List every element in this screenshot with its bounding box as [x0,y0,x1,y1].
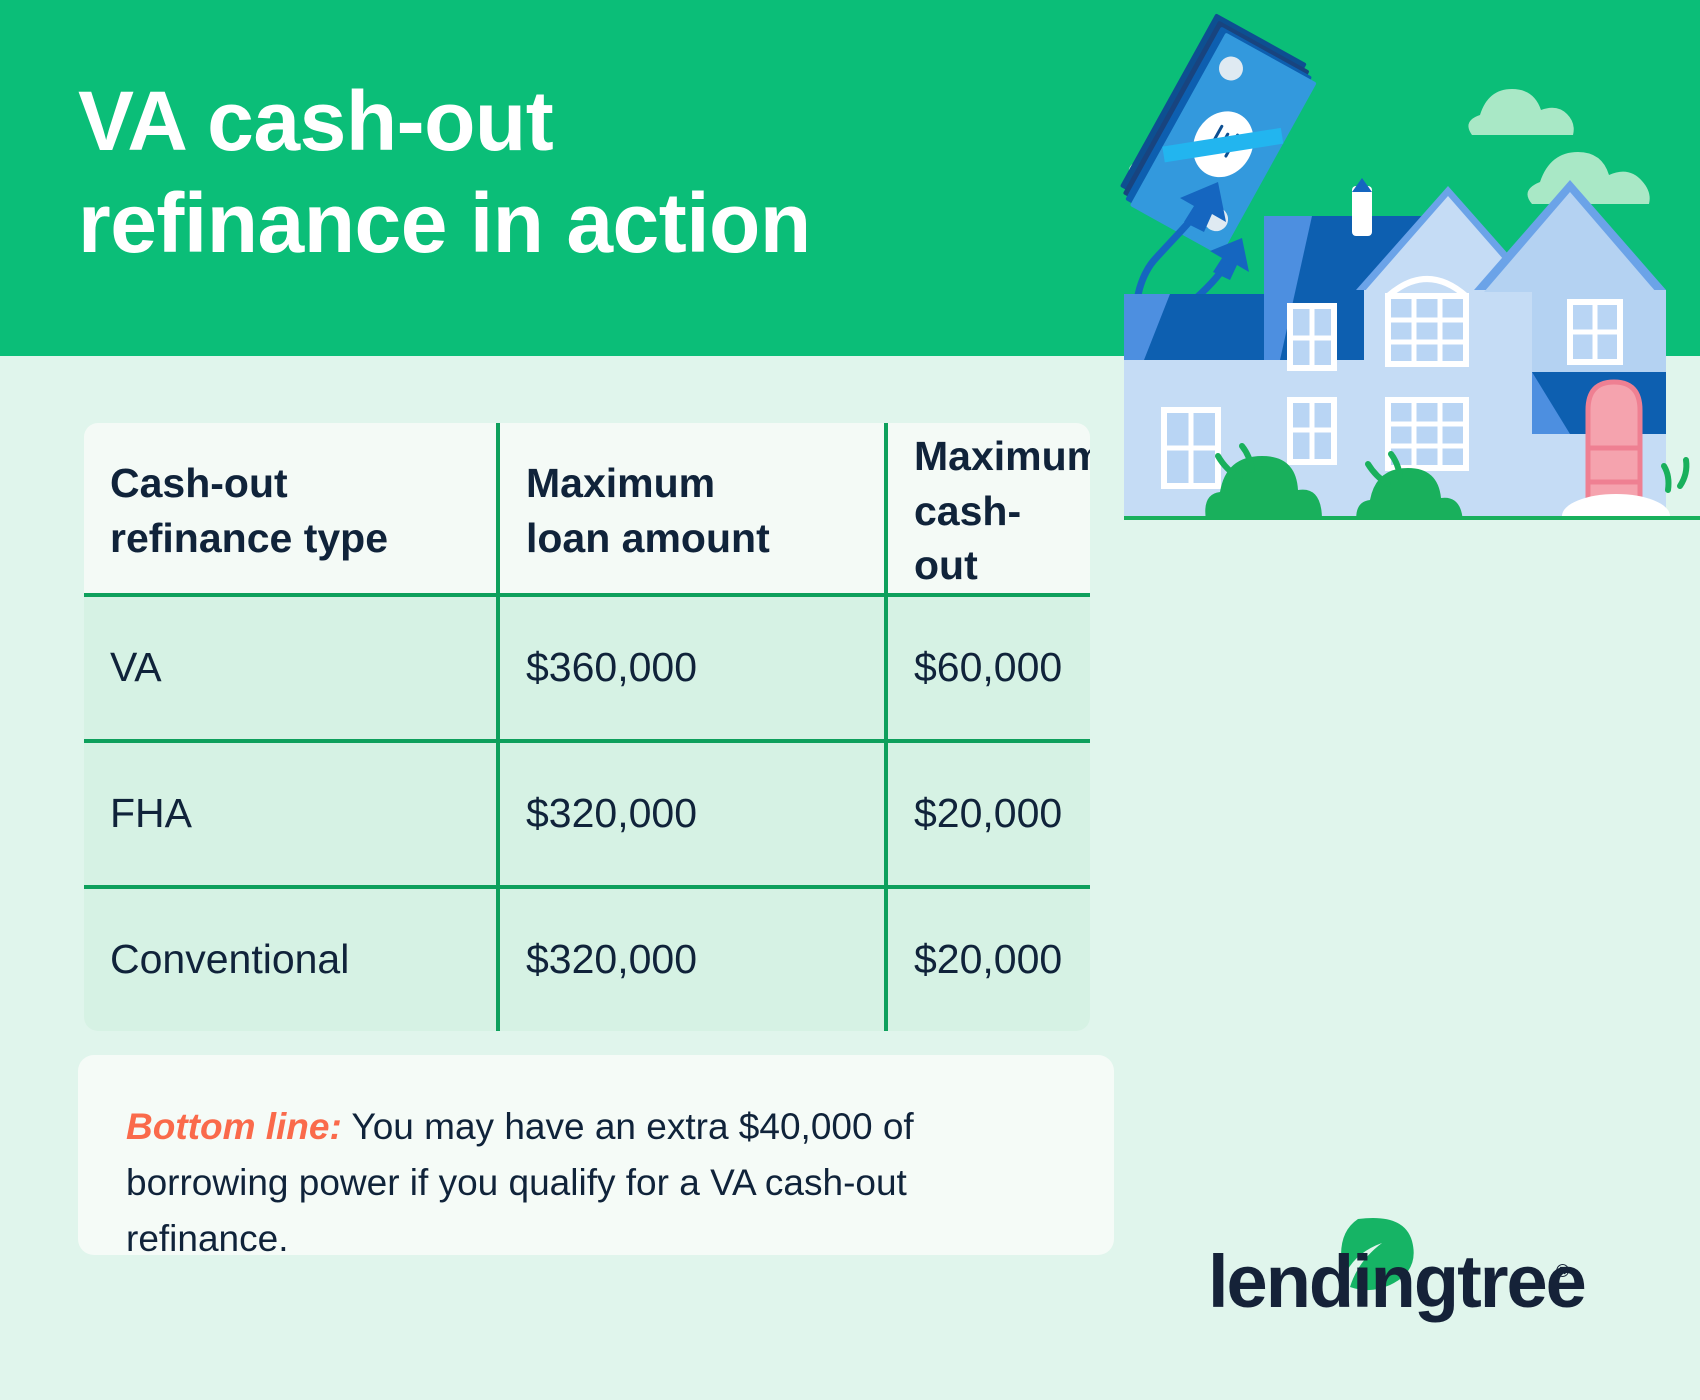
bottom-line-text: Bottom line: You may have an extra $40,0… [126,1099,1066,1268]
column-header-refinance-type: Cash-out refinance type [81,420,498,595]
bottom-line-label: Bottom line: [126,1106,342,1147]
cell-refinance-type: Conventional [81,887,498,1034]
cell-max-loan-amount: $320,000 [498,887,886,1034]
cell-max-cash-out: $60,000 [886,595,1093,741]
table-row: FHA $320,000 $20,000 [81,741,1093,887]
table-row: VA $360,000 $60,000 [81,595,1093,741]
cell-refinance-type: VA [81,595,498,741]
svg-text:lendingtree: lendingtree [1208,1240,1585,1323]
cell-max-cash-out: $20,000 [886,741,1093,887]
table-row: Conventional $320,000 $20,000 [81,887,1093,1034]
hero-illustration [1040,0,1700,520]
comparison-table-wrapper: Cash-out refinance type Maximum loan amo… [78,417,1096,1037]
column-header-max-cash-out: Maximum cash-out [886,420,1093,595]
cell-max-loan-amount: $320,000 [498,741,886,887]
page-title: VA cash-out refinance in action [78,70,1028,275]
cell-refinance-type: FHA [81,741,498,887]
table-body: VA $360,000 $60,000 FHA $320,000 $20,000… [81,595,1093,1034]
column-header-max-loan-amount: Maximum loan amount [498,420,886,595]
svg-text:®: ® [1556,1261,1569,1281]
table-header: Cash-out refinance type Maximum loan amo… [81,420,1093,595]
bottom-line-card: Bottom line: You may have an extra $40,0… [78,1055,1114,1255]
lendingtree-logo[interactable]: lendingtree ® [1208,1215,1588,1325]
table-header-row: Cash-out refinance type Maximum loan amo… [81,420,1093,595]
comparison-table: Cash-out refinance type Maximum loan amo… [78,417,1096,1037]
cell-max-cash-out: $20,000 [886,887,1093,1034]
cell-max-loan-amount: $360,000 [498,595,886,741]
